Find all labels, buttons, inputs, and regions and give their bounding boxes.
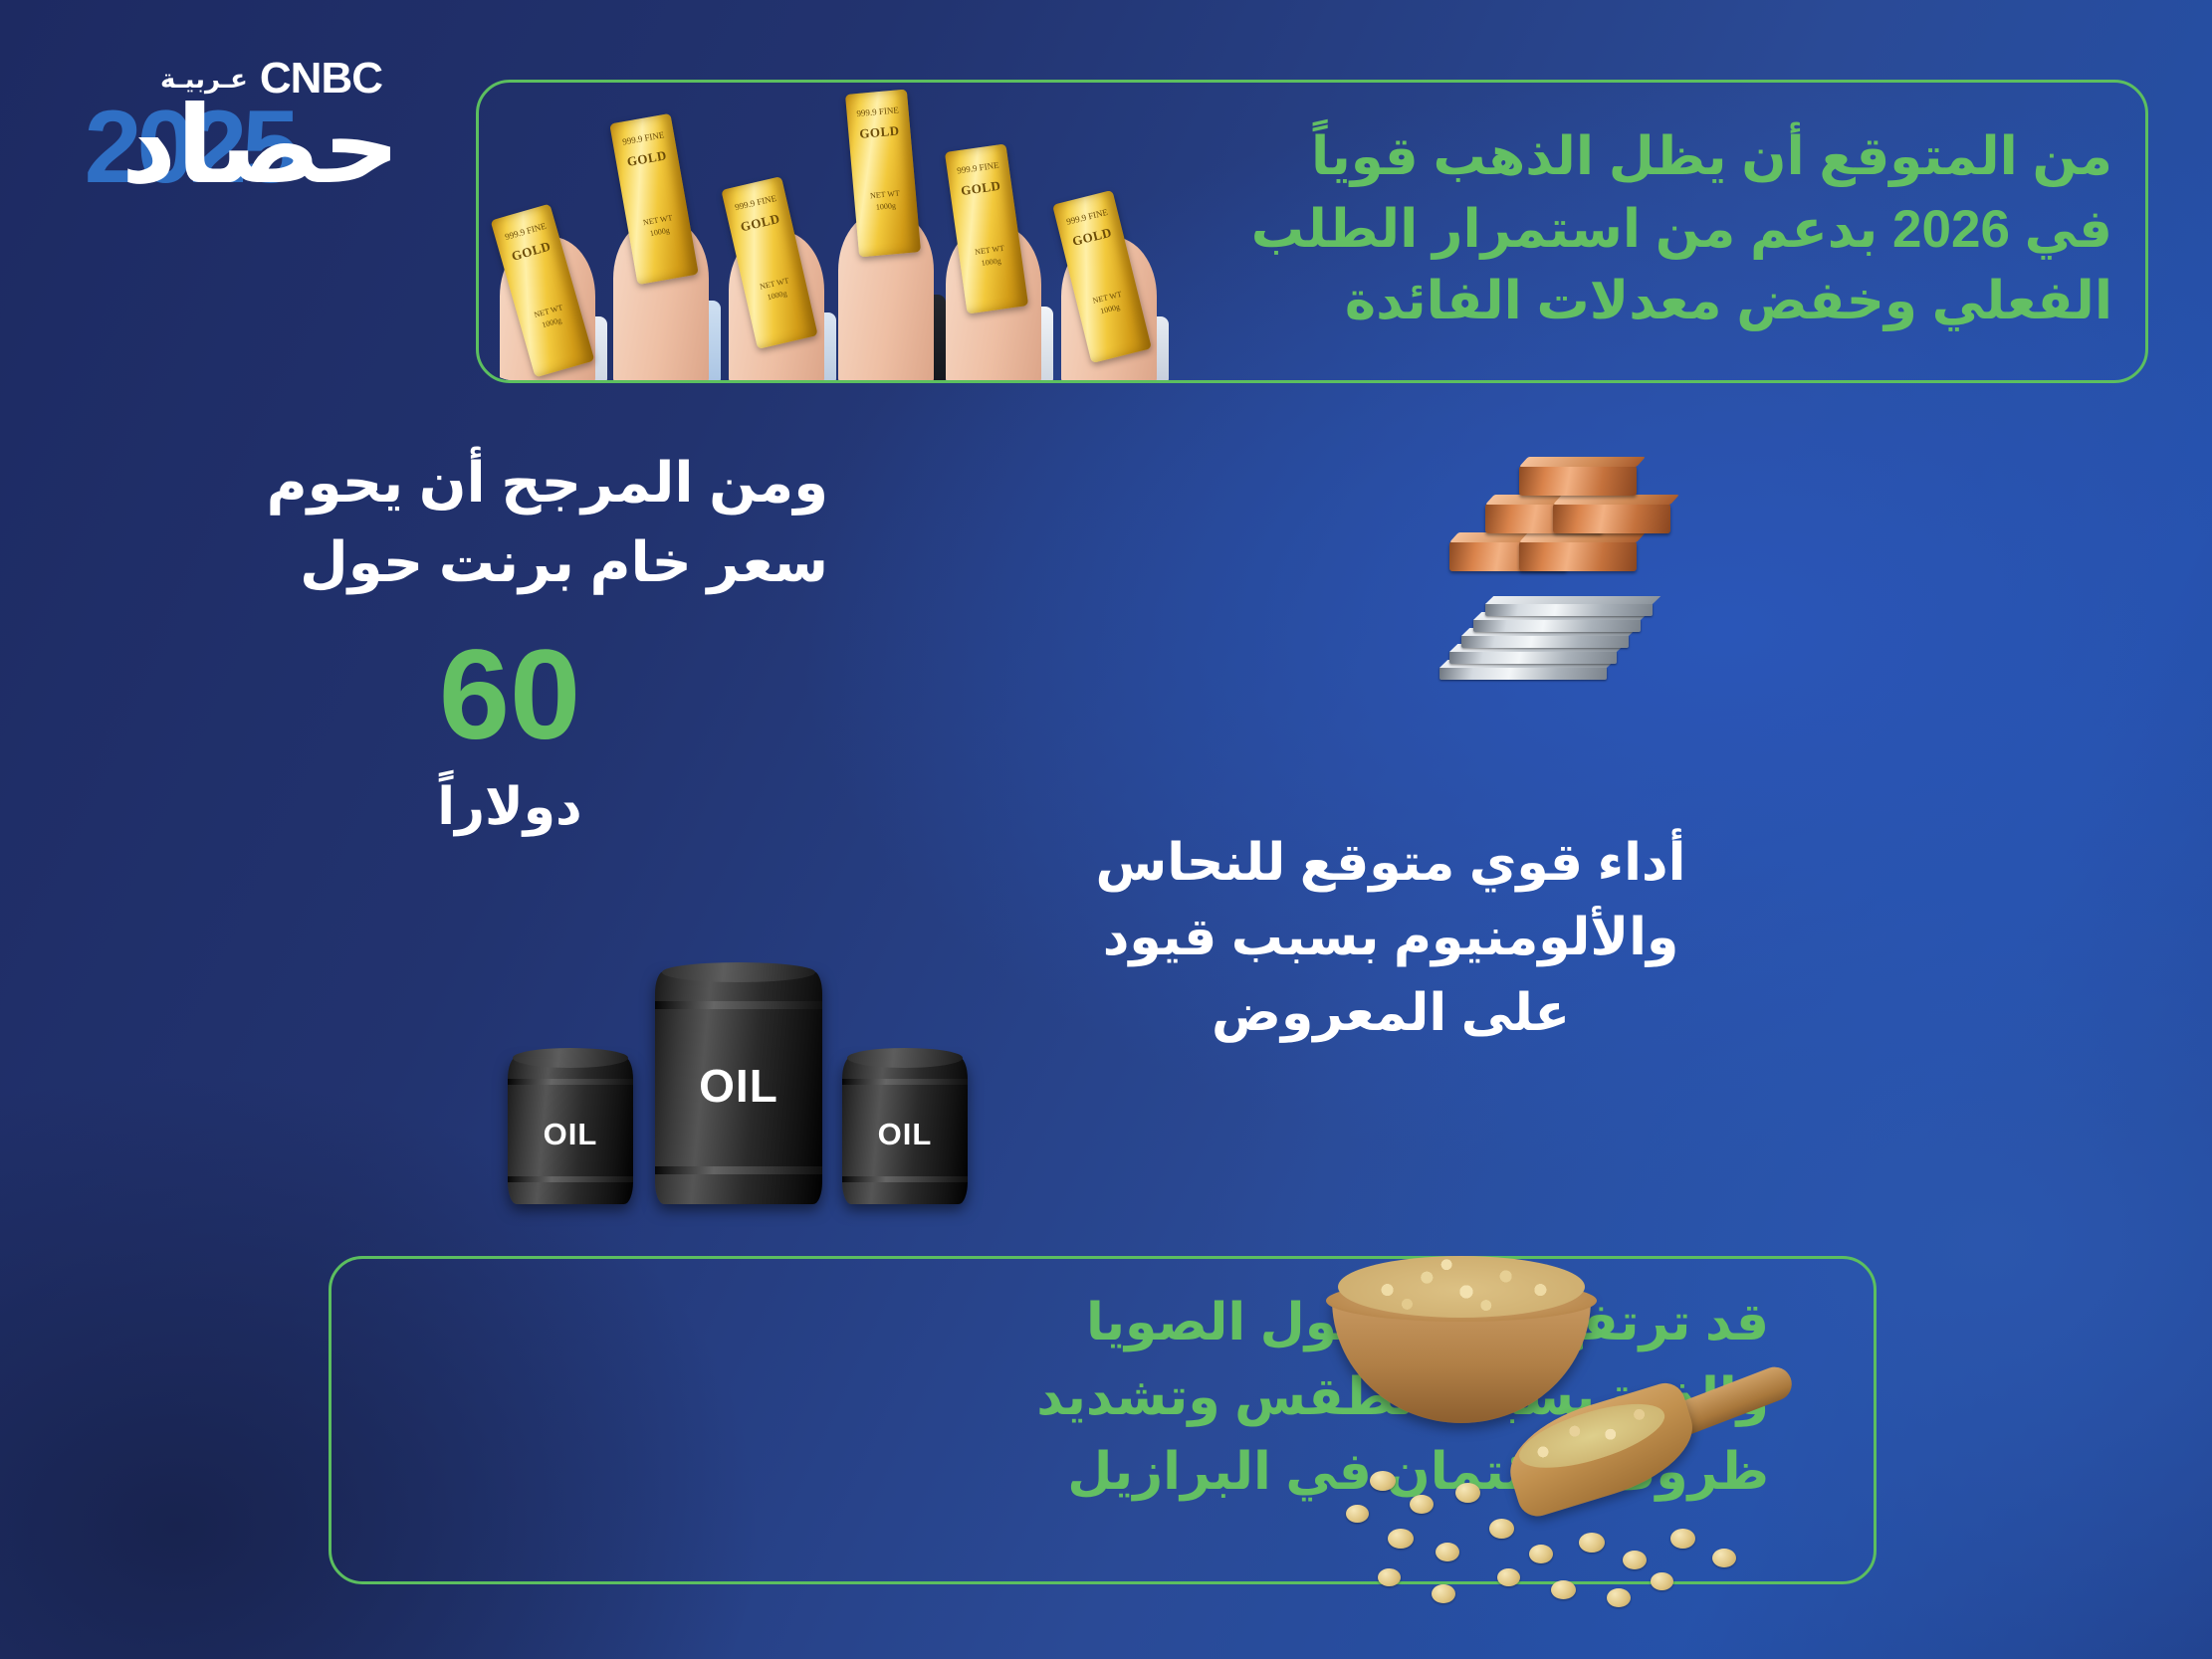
bar-fine: FINE	[756, 193, 777, 207]
bar-purity: 999.9	[621, 133, 643, 146]
barrel-label: OIL	[508, 1117, 633, 1152]
bar-fine: FINE	[644, 129, 665, 142]
barrel-rib	[842, 1079, 968, 1085]
loose-bean	[1489, 1519, 1514, 1539]
loose-bean	[1388, 1529, 1414, 1549]
brent-line-2: سعر خام برنت حول	[191, 522, 828, 602]
loose-bean	[1455, 1483, 1480, 1503]
bar-fine: FINE	[878, 104, 899, 116]
loose-bean	[1607, 1588, 1631, 1607]
bar-fine: FINE	[979, 160, 999, 173]
metals-line-3: على المعروض	[953, 976, 1829, 1051]
loose-bean	[1651, 1572, 1673, 1590]
bar-weight: 1000g	[876, 201, 897, 212]
bar-fine: FINE	[526, 221, 548, 236]
barrel-label: OIL	[655, 1059, 822, 1113]
bar-gold: GOLD	[614, 142, 679, 177]
copper-bar	[1553, 504, 1670, 533]
loose-bean	[1410, 1495, 1434, 1514]
barrel-rib	[842, 1176, 968, 1182]
loose-bean	[1529, 1545, 1553, 1563]
aluminium-sheet	[1461, 635, 1629, 648]
barrel-rib	[508, 1176, 633, 1182]
bar-weight: 1000g	[767, 289, 788, 302]
beans-in-bowl	[1338, 1256, 1585, 1318]
bar-weight: 1000g	[541, 315, 562, 329]
brent-line-1: ومن المرجح أن يحوم	[191, 443, 828, 522]
loose-bean	[1551, 1580, 1576, 1599]
bar-purity: 999.9	[856, 106, 877, 118]
copper-bars-illustration	[1441, 450, 1700, 584]
gold-line-1: من المتوقع أن يظل الذهب قوياً	[1057, 121, 2112, 194]
oil-barrel: OIL	[655, 971, 822, 1204]
gold-line-3: الفعلي وخفض معدلات الفائدة	[1057, 266, 2112, 338]
barrel-rib	[655, 1166, 822, 1174]
bar-weight: 1000g	[649, 226, 670, 238]
brent-price-unit: دولاراً	[271, 776, 749, 838]
oil-barrels-illustration: OIL OIL OIL	[508, 926, 946, 1214]
loose-bean	[1670, 1529, 1695, 1549]
loose-bean	[1432, 1584, 1455, 1603]
oil-barrel: OIL	[842, 1057, 968, 1204]
brent-outlook-text: ومن المرجح أن يحوم سعر خام برنت حول	[191, 443, 828, 601]
loose-bean	[1346, 1505, 1369, 1523]
soybeans-illustration	[1284, 1234, 1842, 1632]
gold-outlook-text: من المتوقع أن يظل الذهب قوياً في 2026 بد…	[1057, 121, 2112, 338]
loose-bean	[1623, 1551, 1647, 1569]
bar-gold: GOLD	[949, 172, 1013, 205]
aluminium-sheet	[1485, 603, 1653, 616]
bar-weight: 1000g	[981, 256, 1001, 268]
loose-bean	[1579, 1533, 1605, 1553]
gold-bar: 999.9 FINE GOLD NET WT 1000g	[845, 90, 921, 258]
metals-outlook-text: أداء قوي متوقع للنحاس والألومنيوم بسبب ق…	[953, 826, 1829, 1051]
metals-line-1: أداء قوي متوقع للنحاس	[953, 826, 1829, 901]
copper-bar	[1519, 466, 1637, 496]
barrel-rib	[508, 1079, 633, 1085]
loose-bean	[1436, 1543, 1459, 1561]
oil-barrel: OIL	[508, 1057, 633, 1204]
aluminium-sheet	[1439, 667, 1607, 680]
gold-line-2: في 2026 بدعم من استمرار الطلب	[1057, 194, 2112, 267]
barrel-label: OIL	[842, 1117, 968, 1152]
bar-gold: GOLD	[848, 118, 912, 148]
bar-purity: 999.9	[504, 227, 526, 242]
loose-bean	[1378, 1568, 1401, 1586]
harvest-word-label: حصاد	[121, 94, 400, 197]
brent-price-value: 60	[271, 632, 749, 759]
logo-bottom-row: 2025 حصاد	[62, 100, 390, 195]
metals-line-2: والألومنيوم بسبب قيود	[953, 901, 1829, 975]
bar-netwt: NET WT	[975, 244, 1005, 257]
barrel-rib	[655, 1001, 822, 1009]
copper-bar	[1519, 541, 1637, 571]
bar-purity: 999.9	[957, 163, 978, 176]
loose-bean	[1712, 1549, 1736, 1567]
bar-netwt: NET WT	[870, 188, 900, 200]
aluminium-sheets-illustration	[1436, 589, 1714, 697]
loose-bean	[1370, 1471, 1396, 1491]
loose-bean	[1497, 1568, 1520, 1586]
aluminium-sheet	[1473, 619, 1641, 632]
aluminium-sheet	[1449, 651, 1617, 664]
bar-purity: 999.9	[734, 198, 756, 212]
cnbc-arabia-logo: CNBC عـربيـة 2025 حصاد	[62, 48, 390, 197]
